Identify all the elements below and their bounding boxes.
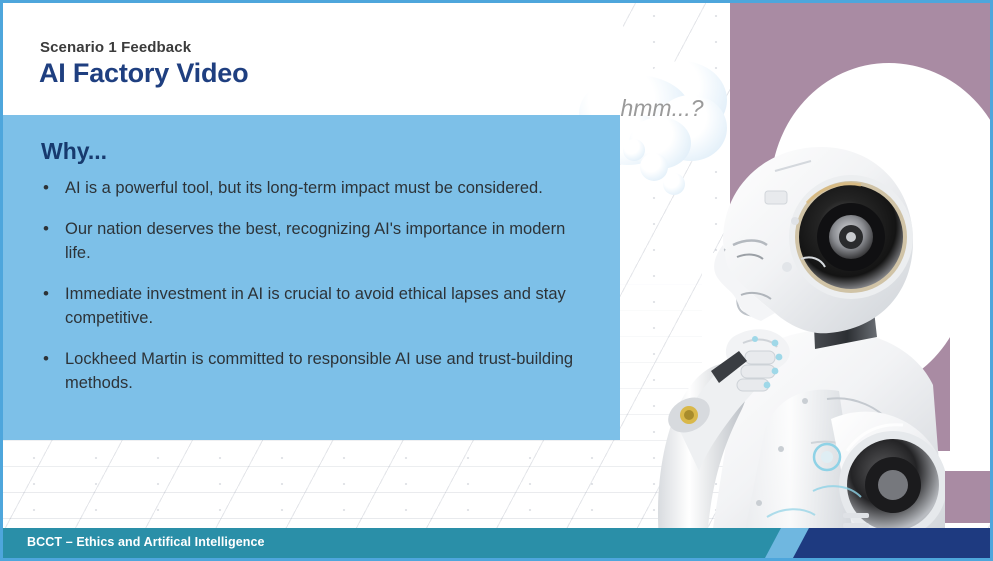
slide-footer: BCCT – Ethics and Artifical Intelligence: [3, 528, 993, 558]
list-item: Lockheed Martin is committed to responsi…: [37, 348, 580, 395]
page-title: AI Factory Video: [39, 58, 248, 89]
footer-navy-band: [793, 528, 993, 558]
content-panel: Why... AI is a powerful tool, but its lo…: [3, 115, 620, 440]
list-item: AI is a powerful tool, but its long-term…: [37, 177, 580, 200]
slide-eyebrow: Scenario 1 Feedback: [40, 39, 191, 56]
footer-label: BCCT – Ethics and Artifical Intelligence: [27, 535, 265, 549]
slide: Scenario 1 Feedback AI Factory Video hmm…: [0, 0, 993, 561]
list-item: Immediate investment in AI is crucial to…: [37, 283, 580, 330]
bullet-list: AI is a powerful tool, but its long-term…: [37, 177, 580, 413]
panel-heading: Why...: [41, 138, 107, 165]
list-item: Our nation deserves the best, recognizin…: [37, 218, 580, 265]
question-mark-stem-right-cut: [950, 253, 993, 453]
thinking-robot-illustration: [615, 99, 945, 541]
